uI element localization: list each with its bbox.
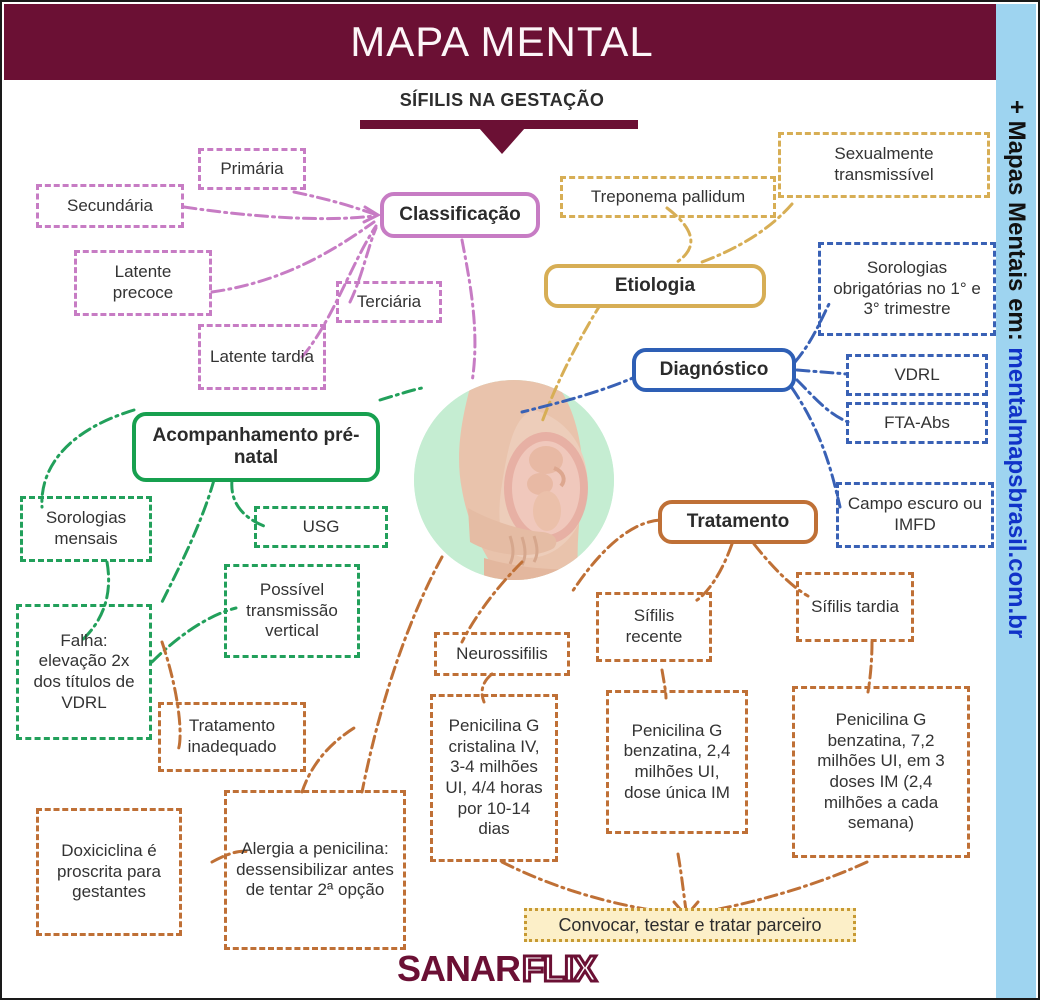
node-latente-precoce[interactable]: Latente precoce: [74, 250, 212, 316]
node-label: Treponema pallidum: [591, 187, 745, 208]
mind-map-page: MAPA MENTAL SÍFILIS NA GESTAÇÃO: [0, 0, 1040, 1000]
node-vdrl[interactable]: VDRL: [846, 354, 988, 396]
node-label: Latente tardia: [210, 347, 314, 368]
node-label: Campo escuro ou IMFD: [847, 494, 983, 535]
node-label: Alergia a penicilina: dessensibilizar an…: [235, 839, 395, 901]
promo-url[interactable]: mentalmapsbrasil.com.br: [1003, 347, 1030, 638]
node-label: Etiologia: [615, 275, 695, 297]
node-primaria[interactable]: Primária: [198, 148, 306, 190]
node-label: Penicilina G benzatina, 7,2 milhões UI, …: [803, 710, 959, 834]
node-label: Tratamento: [687, 511, 789, 533]
logo-flix-text: FLIX: [522, 948, 596, 990]
node-label: Convocar, testar e tratar parceiro: [558, 915, 821, 936]
sanarflix-logo: SANAR FLIX: [397, 948, 596, 990]
node-acompanhamento-pre-natal[interactable]: Acompanhamento pré-natal: [132, 412, 380, 482]
node-secundaria[interactable]: Secundária: [36, 184, 184, 228]
node-label: Terciária: [357, 292, 421, 313]
node-label: Tratamento inadequado: [169, 716, 295, 757]
node-label: USG: [303, 517, 340, 538]
node-neurossifilis[interactable]: Neurossifilis: [434, 632, 570, 676]
node-fta-abs[interactable]: FTA-Abs: [846, 402, 988, 444]
node-sifilis-tardia[interactable]: Sífilis tardia: [796, 572, 914, 642]
node-label: Classificação: [399, 204, 520, 226]
node-label: Penicilina G cristalina IV, 3-4 milhões …: [441, 716, 547, 840]
node-doxiciclina[interactable]: Doxiciclina é proscrita para gestantes: [36, 808, 182, 936]
node-alergia-penicilina[interactable]: Alergia a penicilina: dessensibilizar an…: [224, 790, 406, 950]
node-label: Sífilis tardia: [811, 597, 899, 618]
node-label: VDRL: [894, 365, 939, 386]
node-sexualmente-transmissivel[interactable]: Sexualmente transmissível: [778, 132, 990, 198]
node-tratamento-inadequado[interactable]: Tratamento inadequado: [158, 702, 306, 772]
node-label: Sorologias mensais: [31, 508, 141, 549]
node-possivel-transmissao-vertical[interactable]: Possível transmissão vertical: [224, 564, 360, 658]
node-penicilina-cristalina[interactable]: Penicilina G cristalina IV, 3-4 milhões …: [430, 694, 558, 862]
node-penicilina-benzatina-unica[interactable]: Penicilina G benzatina, 2,4 milhões UI, …: [606, 690, 748, 834]
node-label: Secundária: [67, 196, 153, 217]
node-label: Diagnóstico: [660, 359, 769, 381]
node-label: Possível transmissão vertical: [235, 580, 349, 642]
node-classificacao[interactable]: Classificação: [380, 192, 540, 238]
promo-sidebar-text: + Mapas Mentais em: mentalmapsbrasil.com…: [996, 4, 1036, 1000]
node-label: Primária: [220, 159, 283, 180]
node-sorologias-mensais[interactable]: Sorologias mensais: [20, 496, 152, 562]
node-campo-escuro[interactable]: Campo escuro ou IMFD: [836, 482, 994, 548]
node-label: Sífilis recente: [607, 606, 701, 647]
promo-label: + Mapas Mentais em:: [1003, 100, 1030, 347]
node-penicilina-benzatina-3doses[interactable]: Penicilina G benzatina, 7,2 milhões UI, …: [792, 686, 970, 858]
node-tratamento[interactable]: Tratamento: [658, 500, 818, 544]
node-terciaria[interactable]: Terciária: [336, 281, 442, 323]
node-treponema[interactable]: Treponema pallidum: [560, 176, 776, 218]
node-sifilis-recente[interactable]: Sífilis recente: [596, 592, 712, 662]
node-label: Neurossifilis: [456, 644, 548, 665]
node-sorologias-obrigatorias[interactable]: Sorologias obrigatórias no 1° e 3° trime…: [818, 242, 996, 336]
node-label: Doxiciclina é proscrita para gestantes: [47, 841, 171, 903]
node-diagnostico[interactable]: Diagnóstico: [632, 348, 796, 392]
node-label: FTA-Abs: [884, 413, 950, 434]
node-label: Latente precoce: [85, 262, 201, 303]
node-label: Sexualmente transmissível: [789, 144, 979, 185]
node-latente-tardia[interactable]: Latente tardia: [198, 324, 326, 390]
node-usg[interactable]: USG: [254, 506, 388, 548]
node-label: Penicilina G benzatina, 2,4 milhões UI, …: [617, 721, 737, 804]
logo-sanar-text: SANAR: [397, 948, 520, 990]
node-label: Acompanhamento pré-natal: [148, 425, 364, 469]
node-convocar-parceiro[interactable]: Convocar, testar e tratar parceiro: [524, 908, 856, 942]
node-label: Falha: elevação 2x dos títulos de VDRL: [27, 631, 141, 714]
node-label: Sorologias obrigatórias no 1° e 3° trime…: [829, 258, 985, 320]
node-etiologia[interactable]: Etiologia: [544, 264, 766, 308]
node-falha-vdrl[interactable]: Falha: elevação 2x dos títulos de VDRL: [16, 604, 152, 740]
